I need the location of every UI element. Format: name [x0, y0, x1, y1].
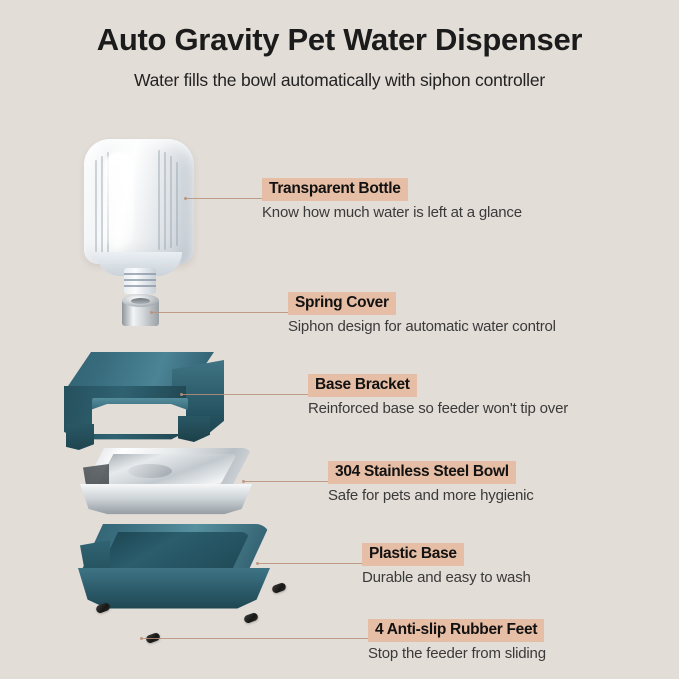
- leader-anchor-spring-cover: [150, 311, 153, 314]
- bottle-neck: [124, 268, 156, 294]
- bottle-neck-thread: [124, 285, 156, 287]
- callout-label: Plastic Base: [362, 543, 464, 566]
- leader-line-steel-bowl: [244, 481, 328, 482]
- callout-description: Know how much water is left at a glance: [262, 204, 522, 221]
- callout-label: Base Bracket: [308, 374, 417, 397]
- leader-anchor-base-bracket: [180, 393, 183, 396]
- bottle-rib: [158, 150, 160, 250]
- callout-rubber-feet[interactable]: 4 Anti-slip Rubber Feet Stop the feeder …: [368, 619, 546, 662]
- callout-spring-cover[interactable]: Spring Cover Siphon design for automatic…: [288, 292, 556, 335]
- bowl-front-wall: [80, 484, 252, 516]
- callout-description: Durable and easy to wash: [362, 569, 531, 586]
- bottle-rib: [170, 156, 172, 248]
- bottle-highlight: [104, 152, 134, 248]
- bottle-rib: [101, 156, 103, 254]
- leader-line-spring-cover: [152, 312, 288, 313]
- rubber-foot: [243, 612, 259, 624]
- page-title: Auto Gravity Pet Water Dispenser: [0, 22, 679, 58]
- bottle-neck-thread: [124, 279, 156, 281]
- bottle-neck-thread: [124, 273, 156, 275]
- bracket-left-leg: [66, 424, 94, 450]
- rubber-foot: [271, 582, 287, 594]
- bracket-right-leg: [178, 416, 210, 442]
- spring-cover-opening: [131, 298, 150, 304]
- infographic-canvas: Auto Gravity Pet Water Dispenser Water f…: [0, 0, 679, 679]
- leader-line-bottle: [186, 198, 262, 199]
- callout-description: Siphon design for automatic water contro…: [288, 318, 556, 335]
- callout-steel-bowl[interactable]: 304 Stainless Steel Bowl Safe for pets a…: [328, 461, 534, 504]
- callout-base-bracket[interactable]: Base Bracket Reinforced base so feeder w…: [308, 374, 568, 417]
- leader-anchor-steel-bowl: [242, 480, 245, 483]
- leader-line-rubber-feet: [142, 638, 368, 639]
- callout-label: 304 Stainless Steel Bowl: [328, 461, 516, 484]
- base-cavity: [100, 532, 250, 570]
- leader-anchor-plastic-base: [256, 562, 259, 565]
- callout-description: Safe for pets and more hygienic: [328, 487, 534, 504]
- leader-line-base-bracket: [182, 394, 308, 395]
- callout-description: Reinforced base so feeder won't tip over: [308, 400, 568, 417]
- bottle-rib: [164, 152, 166, 250]
- callout-plastic-base[interactable]: Plastic Base Durable and easy to wash: [362, 543, 531, 586]
- bracket-arch-opening: [92, 404, 186, 434]
- bowl-inner-reflection: [128, 464, 172, 478]
- leader-anchor-bottle: [184, 197, 187, 200]
- leader-line-plastic-base: [258, 563, 362, 564]
- leader-anchor-rubber-feet: [140, 637, 143, 640]
- bottle-rib: [95, 160, 97, 252]
- callout-transparent-bottle[interactable]: Transparent Bottle Know how much water i…: [262, 178, 522, 221]
- page-subtitle: Water fills the bowl automatically with …: [0, 70, 679, 91]
- bottle-rib: [176, 162, 178, 246]
- callout-description: Stop the feeder from sliding: [368, 645, 546, 662]
- callout-label: Transparent Bottle: [262, 178, 408, 201]
- callout-label: 4 Anti-slip Rubber Feet: [368, 619, 544, 642]
- callout-label: Spring Cover: [288, 292, 396, 315]
